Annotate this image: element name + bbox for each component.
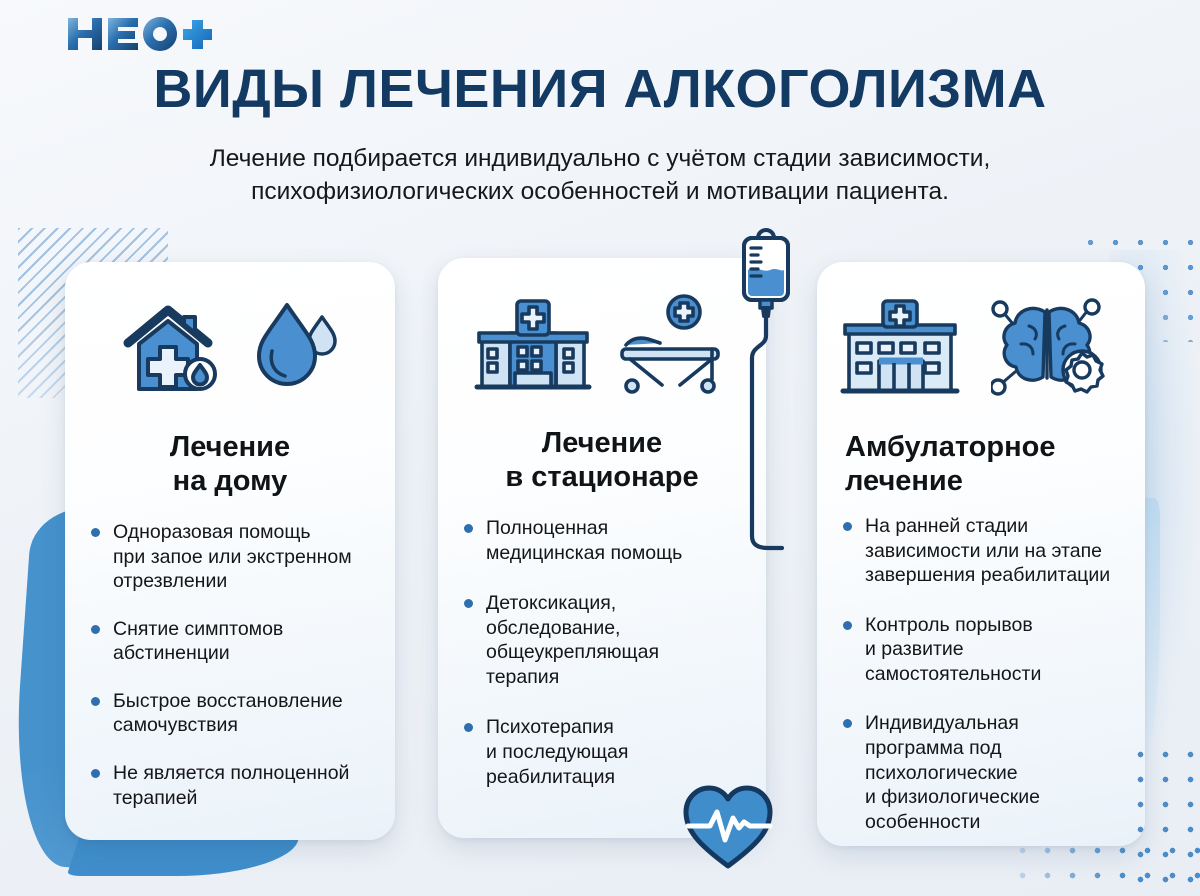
neo-plus-logo[interactable] [66, 12, 216, 56]
bullet-text-line: самостоятельности [865, 662, 1137, 687]
card-inpatient-treatment[interactable]: Лечение в стационаре Полноценная медицин… [438, 258, 766, 838]
bullet-text-line: самочувствия [113, 713, 381, 738]
bullet-text-line: и физиологические [865, 785, 1137, 810]
card-outpatient-treatment[interactable]: Амбулаторное лечение На ранней стадии за… [817, 262, 1145, 846]
bullet-text-line: Быстрое восстановление [113, 689, 381, 714]
card-2-title-line-1: Лечение [438, 426, 766, 460]
bullet-text-line: Полноценная [486, 516, 752, 541]
bullet-text-line: Индивидуальная [865, 711, 1137, 736]
card-2-icons [438, 280, 766, 410]
clinic-building-icon [839, 299, 961, 399]
bullet-text-line: Контроль порывов [865, 613, 1137, 638]
bullet-text-line: терапией [113, 786, 381, 811]
hospital-building-icon [474, 293, 592, 397]
bullet-text-line: и последующая [486, 740, 752, 765]
page-title: ВИДЫ ЛЕЧЕНИЯ АЛКОГОЛИЗМА [0, 62, 1200, 116]
list-item: Индивидуальная программа под психологиче… [841, 711, 1137, 834]
card-3-title-line-2: лечение [845, 464, 1055, 498]
bullet-text-line: Одноразовая помощь [113, 520, 381, 545]
list-item: Быстрое восстановление самочувствия [89, 689, 381, 738]
list-item: Не является полноценной терапией [89, 761, 381, 810]
card-1-title: Лечение на дому [65, 430, 395, 498]
bullet-dot-icon [91, 697, 100, 706]
bullet-text-line: Снятие симптомов [113, 617, 381, 642]
bullet-text-line: общеукрепляющая [486, 640, 752, 665]
card-2-title-line-2: в стационаре [438, 460, 766, 494]
home-medical-icon [122, 299, 226, 399]
list-item: Контроль порывов и развитие самостоятель… [841, 613, 1137, 687]
bullet-dot-icon [464, 723, 473, 732]
card-1-title-line-2: на дому [65, 464, 395, 498]
bullet-dot-icon [91, 769, 100, 778]
heart-pulse-icon [680, 778, 776, 879]
bullet-text-line: программа под [865, 736, 1137, 761]
bullet-text-line: и развитие [865, 637, 1137, 662]
card-3-icons [817, 284, 1167, 414]
bullet-text-line: На ранней стадии [865, 514, 1137, 539]
bullet-dot-icon [91, 528, 100, 537]
card-home-treatment[interactable]: Лечение на дому Одноразовая помощь при з… [65, 262, 395, 840]
stretcher-icon [618, 293, 730, 397]
iv-drip-icon [736, 228, 806, 563]
bullet-dot-icon [843, 719, 852, 728]
water-drop-icon [252, 299, 338, 399]
card-1-title-line-1: Лечение [65, 430, 395, 464]
infographic-canvas: ВИДЫ ЛЕЧЕНИЯ АЛКОГОЛИЗМА Лечение подбира… [0, 0, 1200, 896]
bullet-dot-icon [464, 599, 473, 608]
list-item: Снятие симптомов абстиненции [89, 617, 381, 666]
card-3-bullet-list: На ранней стадии зависимости или на этап… [841, 514, 1137, 859]
bullet-text-line: психологические [865, 761, 1137, 786]
bullet-dot-icon [464, 524, 473, 533]
card-3-title: Амбулаторное лечение [817, 430, 1055, 498]
list-item: Полноценная медицинская помощь [462, 516, 752, 565]
card-2-title: Лечение в стационаре [438, 426, 766, 494]
card-1-icons [65, 284, 395, 414]
subtitle-line-2: психофизиологических особенностей и моти… [90, 176, 1110, 209]
bullet-text-line: при запое или экстренном [113, 545, 381, 570]
bullet-text-line: отрезвлении [113, 569, 381, 594]
list-item: Детоксикация, обследование, общеукрепляю… [462, 591, 752, 689]
bullet-text-line: завершения реабилитации [865, 563, 1137, 588]
subtitle-line-1: Лечение подбирается индивидуально с учёт… [90, 143, 1110, 176]
bullet-text-line: зависимости или на этапе [865, 539, 1137, 564]
bullet-text-line: медицинская помощь [486, 541, 752, 566]
bullet-dot-icon [843, 522, 852, 531]
bullet-dot-icon [91, 625, 100, 634]
bullet-text-line: особенности [865, 810, 1137, 835]
card-2-bullet-list: Полноценная медицинская помощь Детоксика… [462, 516, 752, 815]
card-3-title-line-1: Амбулаторное [845, 430, 1055, 464]
bullet-dot-icon [843, 621, 852, 630]
bullet-text-line: Не является полноценной [113, 761, 381, 786]
card-1-bullet-list: Одноразовая помощь при запое или экстрен… [89, 520, 381, 833]
bullet-text-line: терапия [486, 665, 752, 690]
bullet-text-line: Детоксикация, [486, 591, 752, 616]
bullet-text-line: абстиненции [113, 641, 381, 666]
page-subtitle: Лечение подбирается индивидуально с учёт… [90, 143, 1110, 208]
bullet-text-line: обследование, [486, 616, 752, 641]
bullet-text-line: Психотерапия [486, 715, 752, 740]
list-item: Одноразовая помощь при запое или экстрен… [89, 520, 381, 594]
brain-gear-icon [991, 298, 1107, 400]
list-item: На ранней стадии зависимости или на этап… [841, 514, 1137, 588]
